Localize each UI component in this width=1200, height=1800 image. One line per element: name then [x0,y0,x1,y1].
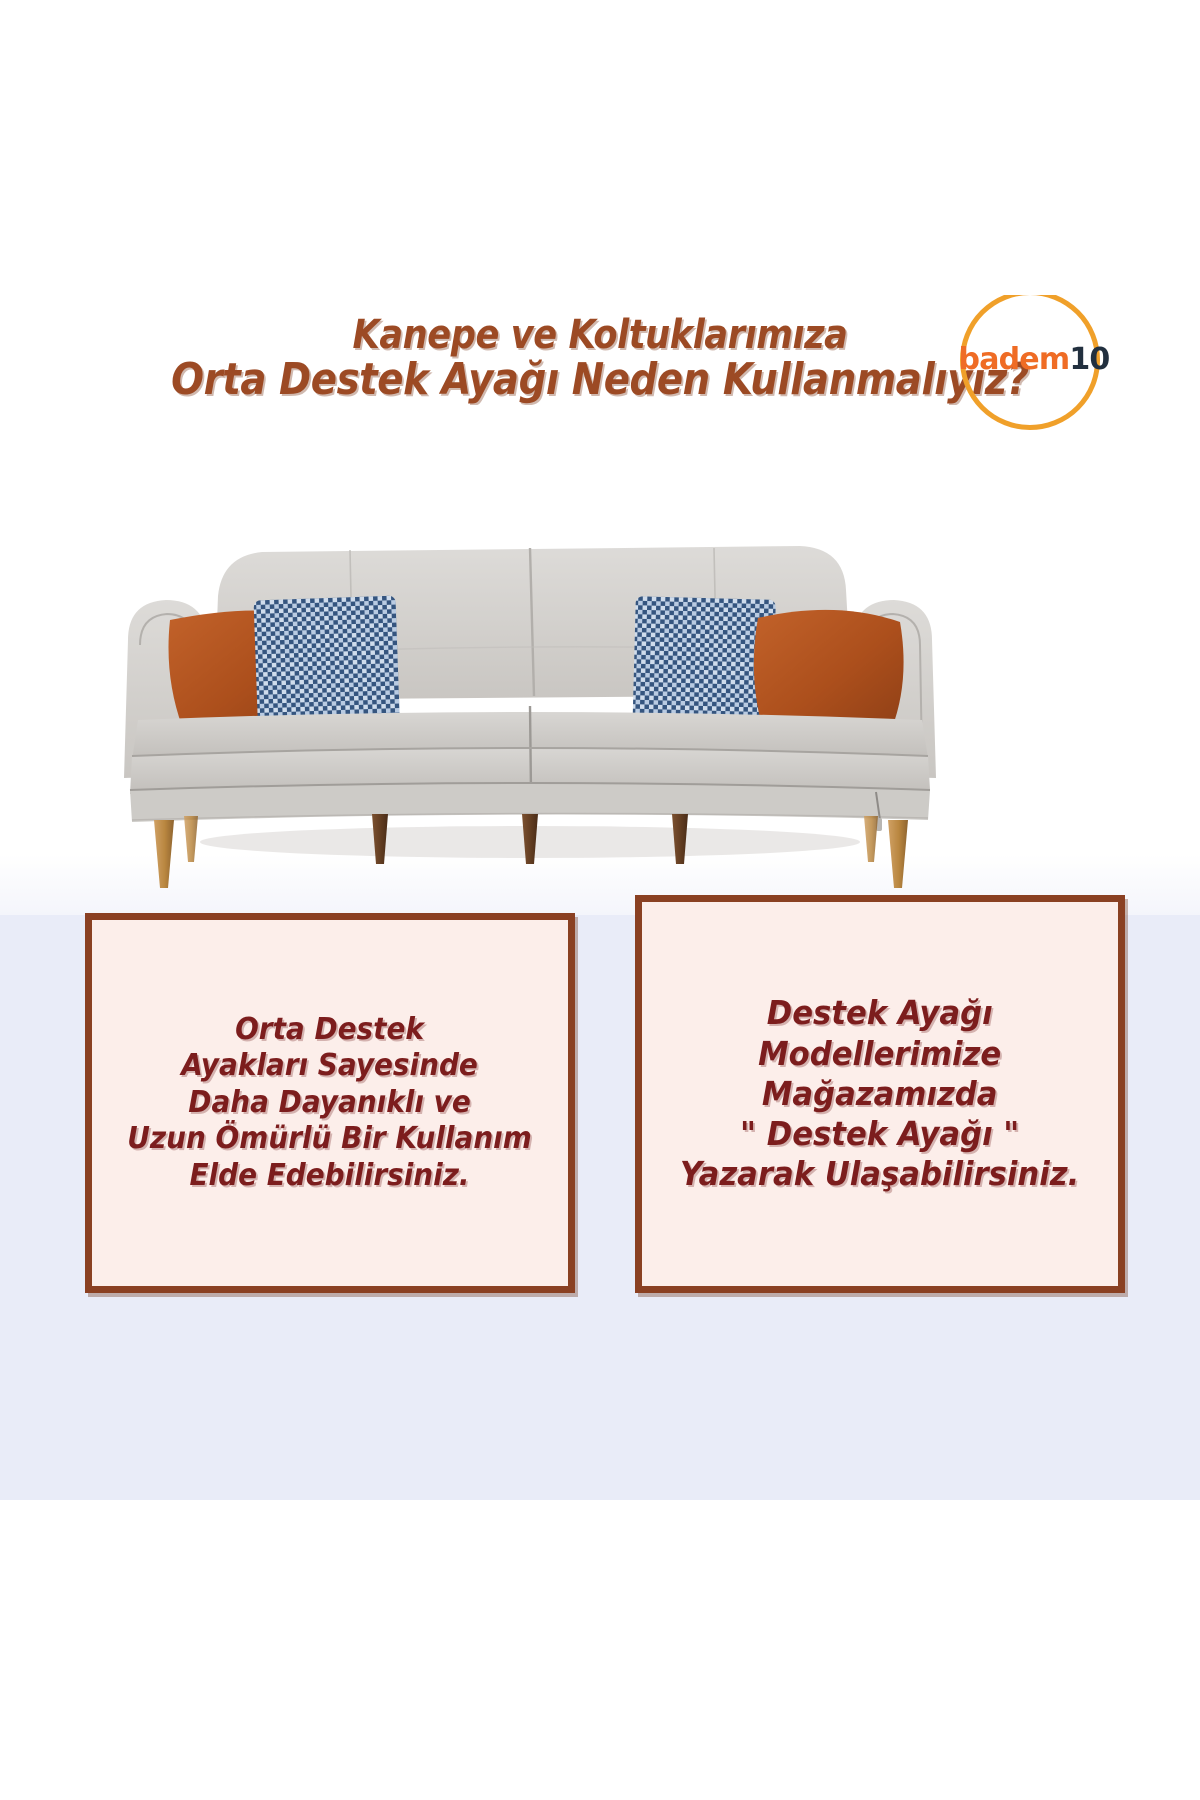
brand-name-part2: 10 [1069,342,1109,377]
left-line-1: Orta Destek [128,1012,533,1049]
right-line-4: " Destek Ayağı " [680,1114,1079,1154]
brand-name-part1: badem [959,342,1070,377]
front-leg-right [888,820,908,888]
left-line-3: Daha Dayanıklı ve [128,1085,533,1122]
front-leg-left [154,820,174,888]
info-box-left: Orta Destek Ayakları Sayesinde Daha Daya… [85,913,575,1293]
info-box-right-text: Destek Ayağı Modellerimize Mağazamızda "… [680,993,1079,1194]
left-line-5: Elde Edebilirsiniz. [128,1158,533,1195]
product-graphic-page: badem10 Kanepe ve Koltuklarımıza Orta De… [0,0,1200,1800]
center-support-leg-1 [372,814,388,864]
sofa-illustration [110,490,950,890]
info-box-right: Destek Ayağı Modellerimize Mağazamızda "… [635,895,1125,1293]
left-line-2: Ayakları Sayesinde [128,1048,533,1085]
right-line-5: Yazarak Ulaşabilirsiniz. [680,1154,1079,1194]
info-boxes: Orta Destek Ayakları Sayesinde Daha Daya… [0,895,1200,1315]
left-line-4: Uzun Ömürlü Bir Kullanım [128,1121,533,1158]
graphic-canvas: badem10 Kanepe ve Koltuklarımıza Orta De… [0,295,1200,1500]
right-line-3: Mağazamızda [680,1074,1079,1114]
center-support-leg-3 [672,814,688,864]
brand-logo: badem10 [960,295,1112,442]
right-line-1: Destek Ayağı [680,993,1079,1033]
info-box-left-text: Orta Destek Ayakları Sayesinde Daha Daya… [128,1012,533,1195]
sofa-product-image [110,490,950,890]
right-line-2: Modellerimize [680,1034,1079,1074]
brand-wordmark: badem10 [954,342,1114,377]
